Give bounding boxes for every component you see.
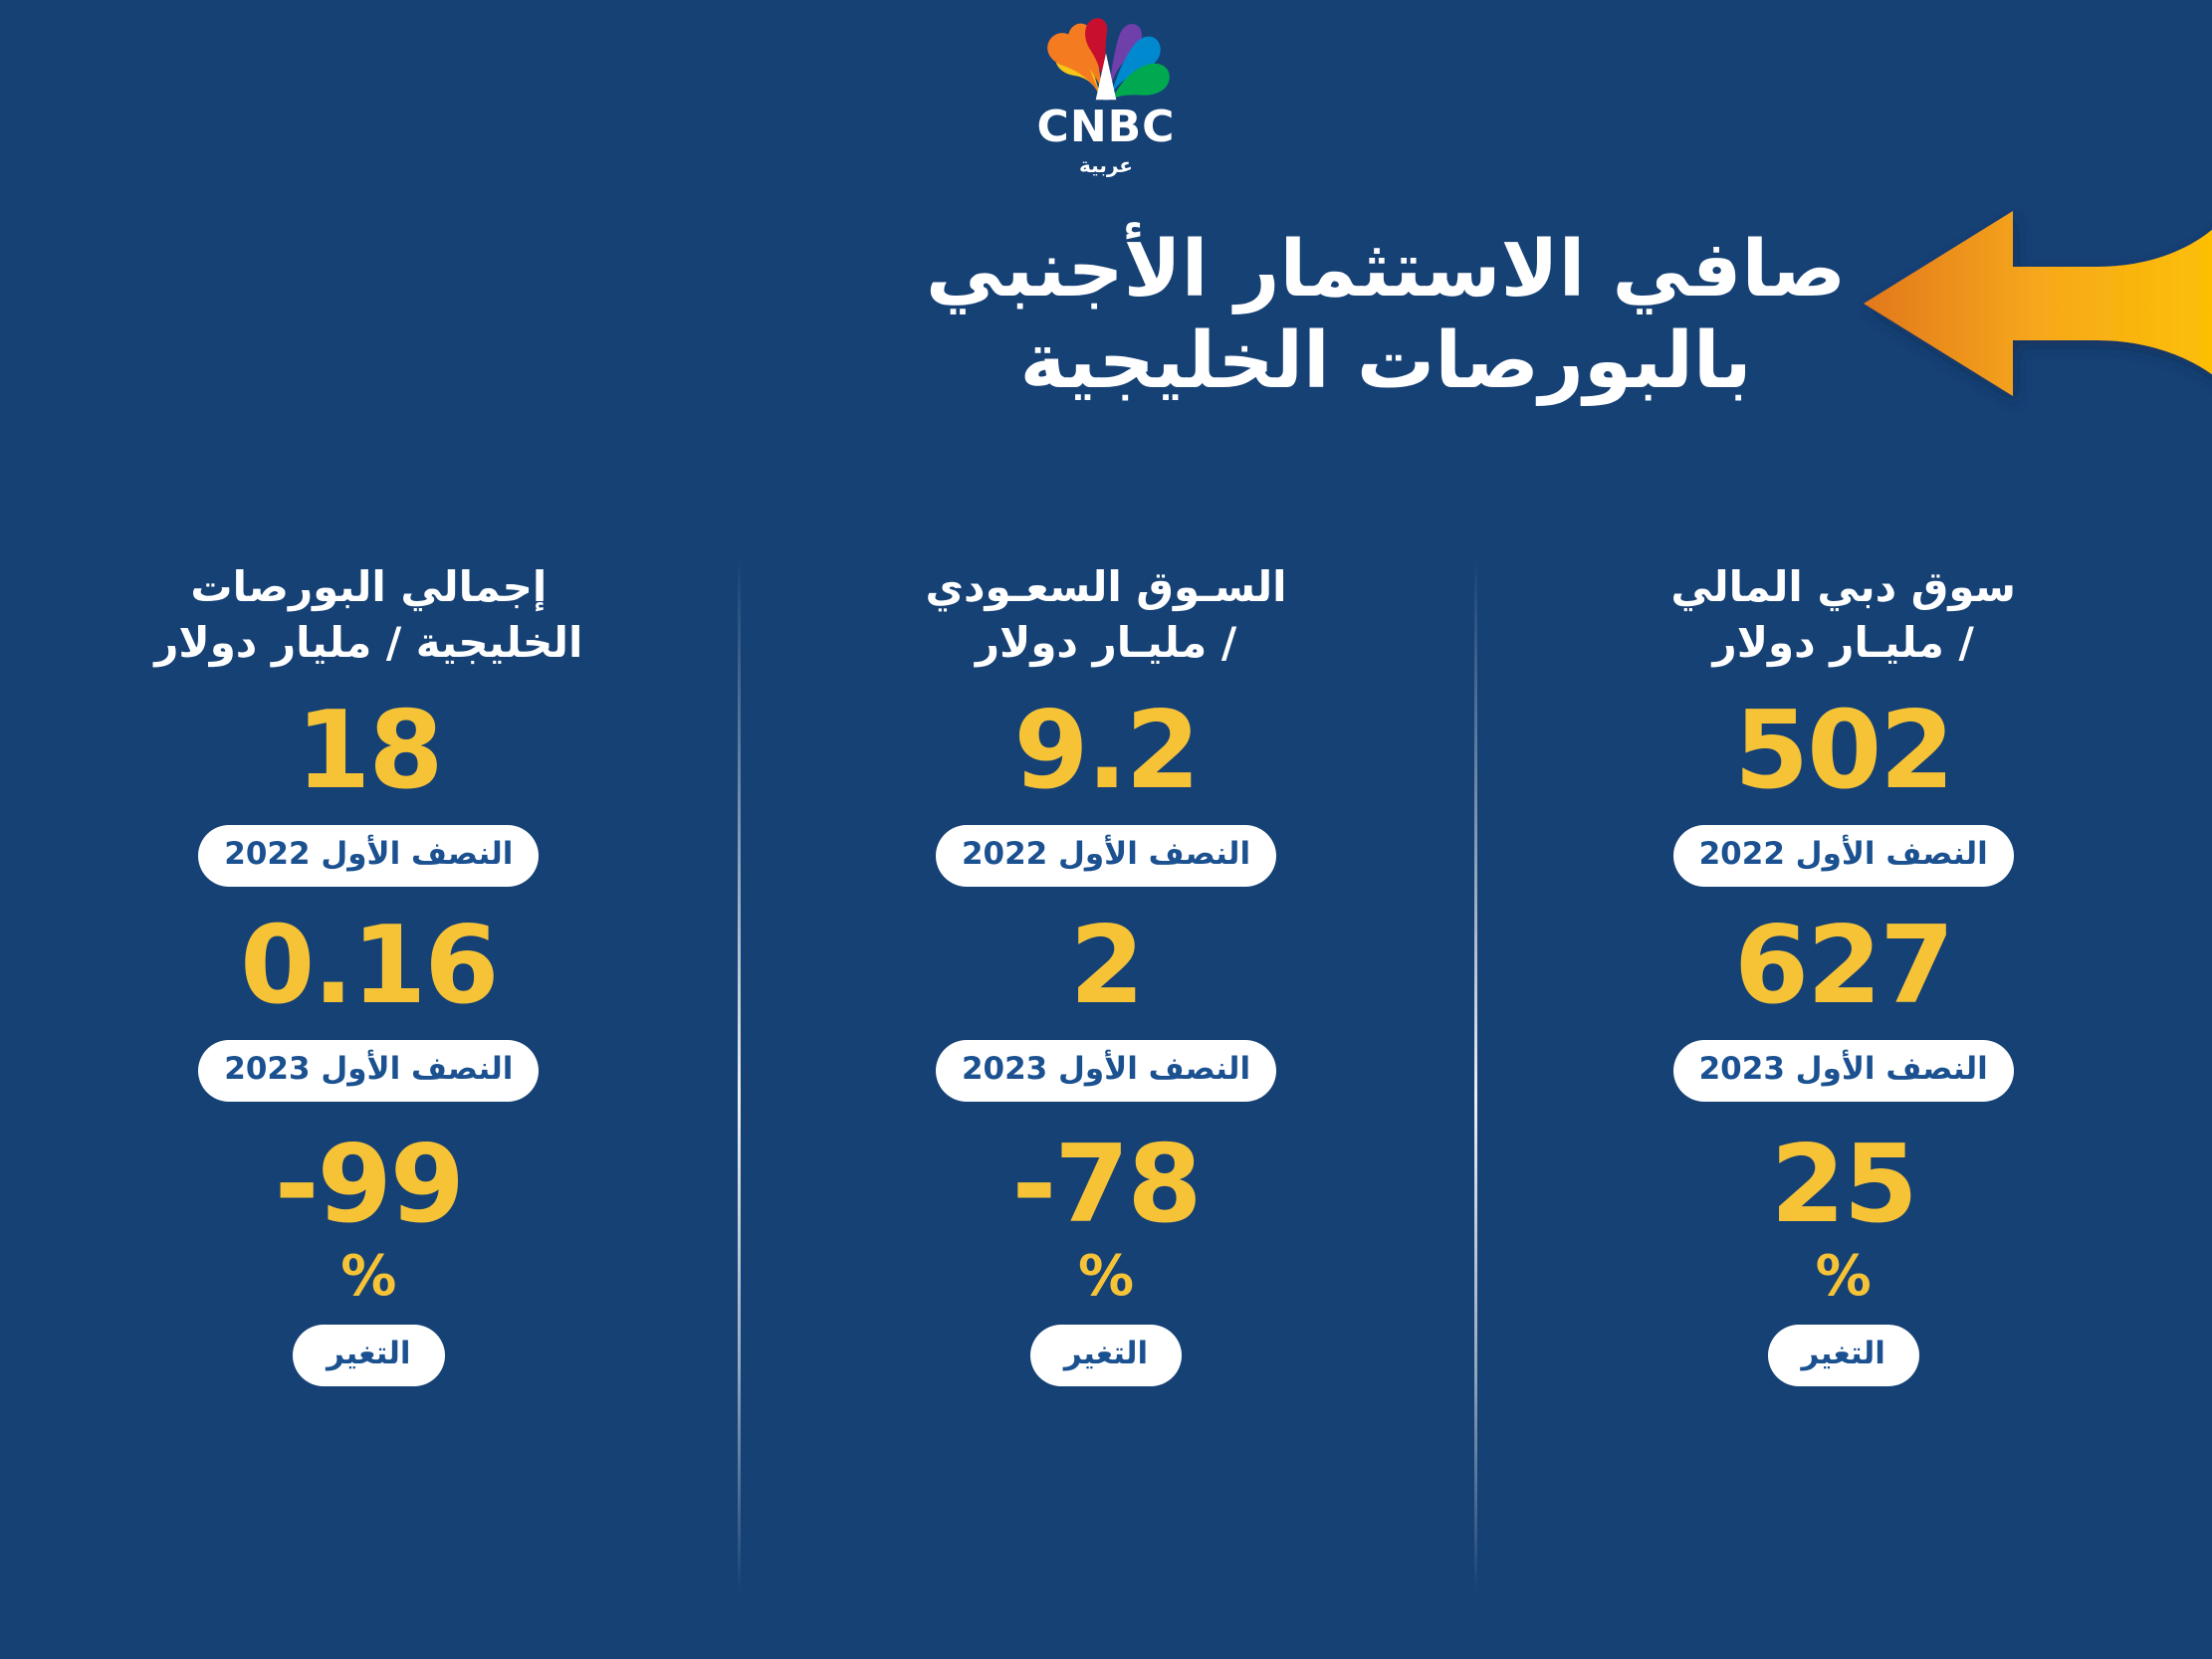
metric-column-dubai-market: سوق دبي المالي / مليـار دولار 502 النصف …: [1474, 537, 2212, 1632]
title-line-1: صافي الاستثمار الأجنبي: [709, 224, 2063, 315]
column-header: سوق دبي المالي / مليـار دولار: [1504, 559, 2182, 672]
label-h1-2023: النصف الأول 2023: [1673, 1040, 2014, 1102]
column-divider: [738, 557, 741, 1592]
percent-sign: %: [340, 1249, 396, 1305]
cnbc-wordmark: CNBC: [1037, 105, 1176, 149]
column-divider: [1474, 557, 1477, 1592]
value-h1-2023: 0.16: [240, 913, 497, 1020]
label-h1-2023: النصف الأول 2023: [198, 1040, 539, 1102]
value-h1-2023: 2: [1069, 913, 1142, 1020]
value-h1-2022: 9.2: [1013, 698, 1198, 805]
value-h1-2022: 502: [1734, 698, 1952, 805]
label-change: التغير: [293, 1325, 444, 1386]
value-change: -78: [1011, 1132, 1200, 1239]
label-h1-2022: النصف الأول 2022: [198, 825, 539, 887]
metric-column-saudi-market: السـوق السعـودي / مليـار دولار 9.2 النصف…: [738, 537, 1475, 1632]
cnbc-arabic-wordmark: عربية: [1079, 153, 1133, 177]
cnbc-logo: CNBC عربية: [0, 18, 2212, 177]
label-h1-2022: النصف الأول 2022: [936, 825, 1276, 887]
page-title: صافي الاستثمار الأجنبي بالبورصات الخليجي…: [709, 224, 2063, 407]
nbc-peacock-icon: [1031, 18, 1181, 104]
metric-column-gcc-total: إجمالي البورصات الخليجية / مليار دولار 1…: [0, 537, 738, 1632]
label-h1-2023: النصف الأول 2023: [936, 1040, 1276, 1102]
column-header: إجمالي البورصات الخليجية / مليار دولار: [30, 559, 708, 672]
label-h1-2022: النصف الأول 2022: [1673, 825, 2014, 887]
value-h1-2022: 18: [296, 698, 441, 805]
percent-sign: %: [1078, 1249, 1134, 1305]
value-change: -99: [275, 1132, 463, 1239]
metrics-row: إجمالي البورصات الخليجية / مليار دولار 1…: [0, 537, 2212, 1632]
value-change: 25: [1771, 1132, 1916, 1239]
column-header: السـوق السعـودي / مليـار دولار: [767, 559, 1444, 672]
label-change: التغير: [1768, 1325, 1919, 1386]
title-line-2: بالبورصات الخليجية: [709, 315, 2063, 407]
percent-sign: %: [1816, 1249, 1872, 1305]
label-change: التغير: [1030, 1325, 1182, 1386]
value-h1-2023: 627: [1734, 913, 1952, 1020]
